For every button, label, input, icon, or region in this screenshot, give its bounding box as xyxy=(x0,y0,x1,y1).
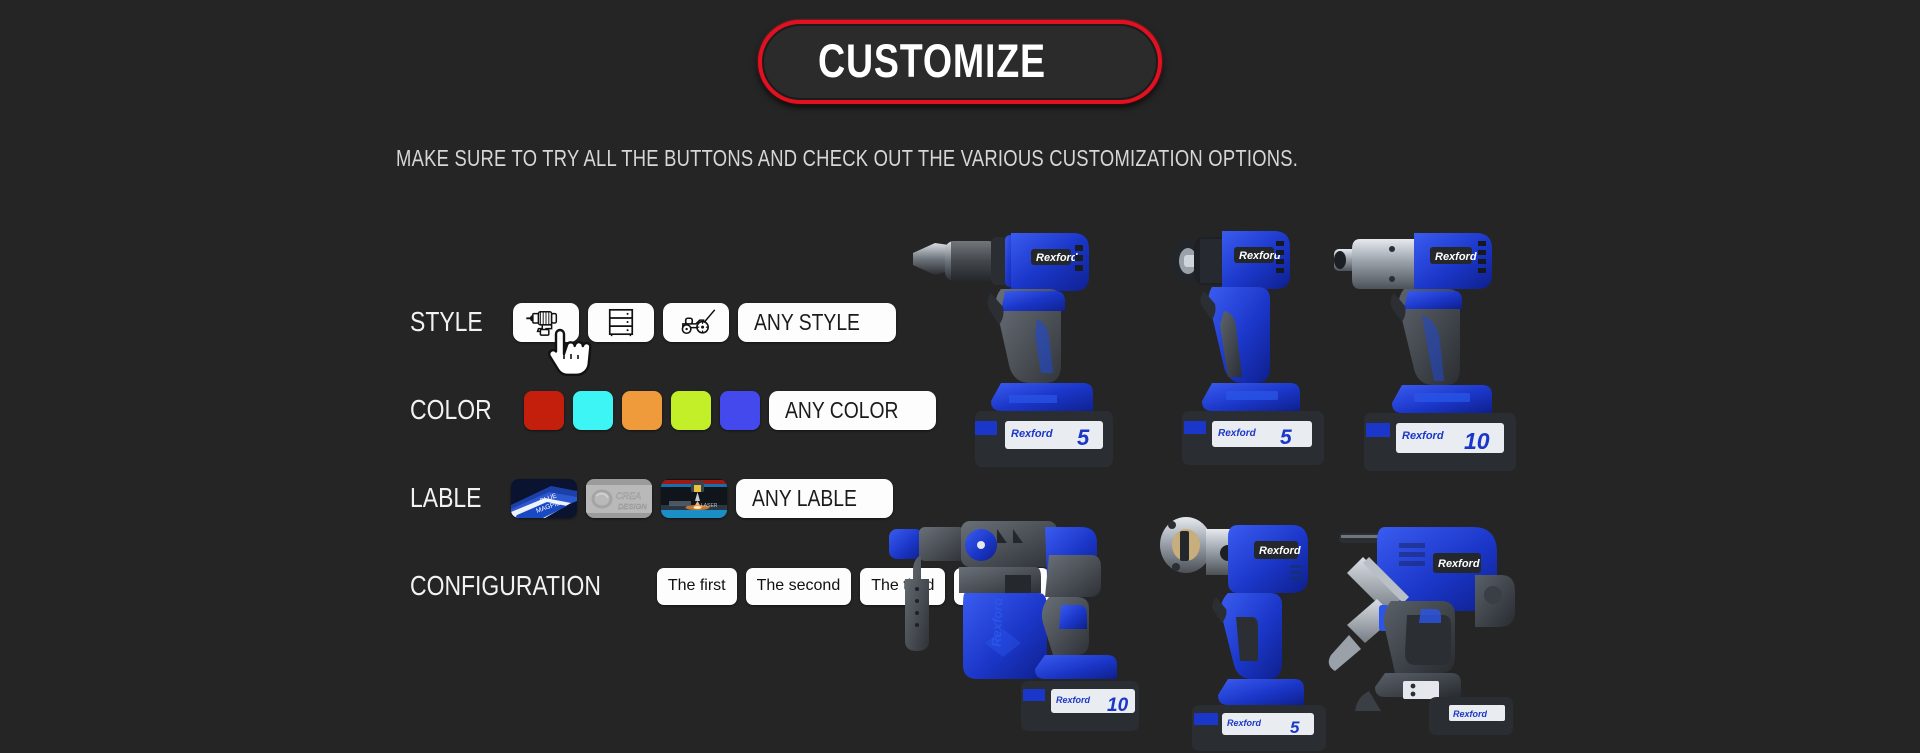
product-hammer-drill-driver[interactable]: Rexford Rexford 5 xyxy=(905,215,1130,480)
page-subtitle: MAKE SURE TO TRY ALL THE BUTTONS AND CHE… xyxy=(396,145,1298,172)
customization-options: STYLE xyxy=(410,300,940,608)
brand-text: Rexford xyxy=(1036,252,1078,264)
page-subtitle-container: MAKE SURE TO TRY ALL THE BUTTONS AND CHE… xyxy=(0,145,1920,172)
lawn-mower-icon xyxy=(673,307,719,337)
page-title-pill: CUSTOMIZE xyxy=(758,20,1163,104)
color-row: COLOR ANY COLOR xyxy=(410,388,940,432)
color-option-blue[interactable] xyxy=(720,391,760,430)
lable-option-laser-engraving[interactable]: LASER xyxy=(661,479,727,518)
configuration-option-2-label: The second xyxy=(757,577,841,595)
color-option-lime[interactable] xyxy=(671,391,711,430)
press-tool-image: Rexford Rexford 5 xyxy=(1150,505,1330,753)
style-any-button[interactable]: ANY STYLE xyxy=(738,303,896,342)
svg-text:Rexford: Rexford xyxy=(1239,250,1281,262)
svg-text:Rexford: Rexford xyxy=(1259,545,1301,557)
impact-wrench-image: Rexford Rexford 10 xyxy=(1330,215,1520,480)
svg-text:Rexford: Rexford xyxy=(1218,428,1257,439)
impact-driver-image: Rexford Rexford 5 xyxy=(1150,215,1325,480)
svg-text:Rexford: Rexford xyxy=(1453,709,1488,719)
style-row: STYLE xyxy=(410,300,940,344)
rotary-hammer-image: Rexford Rexford 10 xyxy=(885,505,1145,753)
color-option-red[interactable] xyxy=(524,391,564,430)
style-any-label: ANY STYLE xyxy=(754,309,860,336)
svg-text:10: 10 xyxy=(1107,695,1129,716)
configuration-option-1-label: The first xyxy=(668,577,726,595)
grey-embossed-plate-image: CREA DESIGN xyxy=(586,479,652,518)
page-title-container: CUSTOMIZE xyxy=(0,20,1920,104)
battery-capacity-text: 5 xyxy=(1077,425,1090,450)
color-options: ANY COLOR xyxy=(524,391,936,430)
svg-text:Rexford: Rexford xyxy=(1435,251,1477,263)
laser-engraving-machine-image: LASER xyxy=(661,479,727,518)
style-option-cabinet[interactable] xyxy=(588,303,654,342)
configuration-row-label: CONFIGURATION xyxy=(410,570,601,602)
lable-row-label-container: LABLE xyxy=(410,482,497,514)
configuration-row-label-container: CONFIGURATION xyxy=(410,570,643,602)
lable-option-printed-sticker[interactable]: BLUE MAGPIE xyxy=(511,479,577,518)
tool-cabinet-icon xyxy=(598,307,644,337)
configuration-option-1[interactable]: The first xyxy=(657,568,737,605)
svg-text:10: 10 xyxy=(1464,428,1490,454)
page-title: CUSTOMIZE xyxy=(818,35,1046,87)
product-rotary-hammer[interactable]: Rexford Rexford 10 xyxy=(885,505,1145,753)
color-row-label-container: COLOR xyxy=(410,394,510,426)
product-gallery: Rexford Rexford 5 xyxy=(905,215,1920,753)
color-row-label: COLOR xyxy=(410,394,492,426)
lable-row-label: LABLE xyxy=(410,482,481,514)
style-options: ANY STYLE xyxy=(513,303,896,342)
drill-driver-image: Rexford Rexford 5 xyxy=(905,215,1130,480)
svg-text:Rexford: Rexford xyxy=(1056,695,1091,705)
svg-text:CREA: CREA xyxy=(616,491,641,501)
lable-any-button[interactable]: ANY LABLE xyxy=(736,479,893,518)
nailer-image: Rexford Rexford xyxy=(1325,505,1525,753)
blue-printed-label-image: BLUE MAGPIE xyxy=(511,479,577,518)
svg-text:DESIGN: DESIGN xyxy=(618,502,647,511)
style-option-drill[interactable] xyxy=(513,303,579,342)
battery-brand-text: Rexford xyxy=(1011,428,1053,440)
customize-page: CUSTOMIZE MAKE SURE TO TRY ALL THE BUTTO… xyxy=(0,0,1920,753)
svg-text:Rexford: Rexford xyxy=(1438,558,1480,570)
lable-option-embossed-plate[interactable]: CREA DESIGN xyxy=(586,479,652,518)
svg-text:5: 5 xyxy=(1290,718,1300,737)
color-option-cyan[interactable] xyxy=(573,391,613,430)
color-any-label: ANY COLOR xyxy=(785,397,898,424)
lable-any-label: ANY LABLE xyxy=(752,485,857,512)
style-option-mower[interactable] xyxy=(663,303,729,342)
product-impact-driver[interactable]: Rexford Rexford 5 xyxy=(1150,215,1325,480)
svg-text:Rexford: Rexford xyxy=(1402,430,1444,442)
cordless-drill-icon xyxy=(523,307,569,337)
product-cordless-nailer[interactable]: Rexford Rexford xyxy=(1325,505,1525,753)
color-option-orange[interactable] xyxy=(622,391,662,430)
lable-row: LABLE BLUE MAGPIE xyxy=(410,476,940,520)
svg-text:5: 5 xyxy=(1280,426,1292,449)
svg-text:Rexford: Rexford xyxy=(1227,718,1262,728)
product-impact-wrench[interactable]: Rexford Rexford 10 xyxy=(1330,215,1520,480)
lable-options: BLUE MAGPIE CREA DESIGN xyxy=(511,479,893,518)
configuration-option-2[interactable]: The second xyxy=(746,568,852,605)
product-press-tool[interactable]: Rexford Rexford 5 xyxy=(1150,505,1330,753)
configuration-row: CONFIGURATION The first The second The t… xyxy=(410,564,940,608)
style-row-label: STYLE xyxy=(410,306,483,338)
svg-text:LASER: LASER xyxy=(701,503,718,509)
style-row-label-container: STYLE xyxy=(410,306,499,338)
